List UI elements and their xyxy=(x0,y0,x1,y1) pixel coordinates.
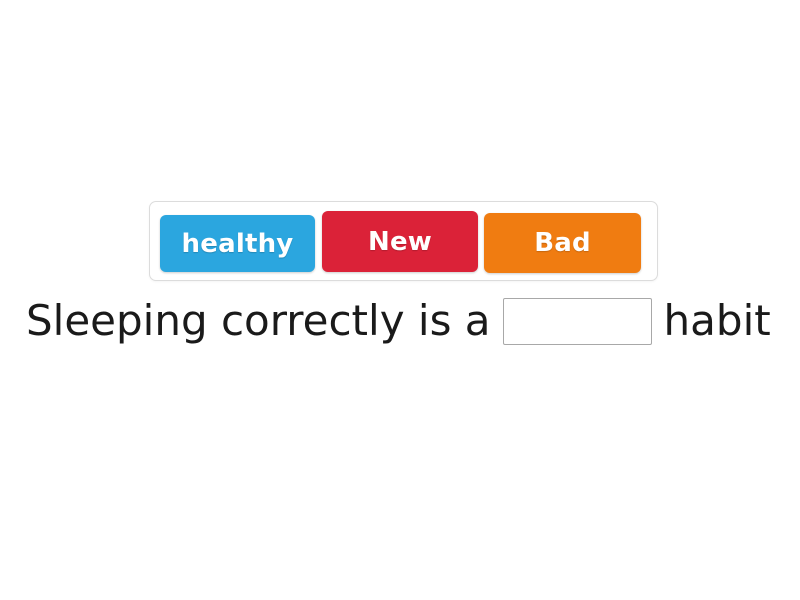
sentence-text-after: habit xyxy=(664,300,771,342)
sentence-text-before: Sleeping correctly is a xyxy=(26,300,491,342)
activity-stage: healthy New Bad Sleeping correctly is a … xyxy=(0,0,800,600)
word-tile-new[interactable]: New xyxy=(322,211,478,272)
word-tile-healthy-label: healthy xyxy=(182,229,294,259)
word-tile-bad[interactable]: Bad xyxy=(484,213,641,273)
sentence-line: Sleeping correctly is a habit xyxy=(26,290,786,352)
word-tile-healthy[interactable]: healthy xyxy=(160,215,315,272)
word-tile-new-label: New xyxy=(368,227,432,257)
answer-drop-slot[interactable] xyxy=(503,298,652,345)
word-tile-bad-label: Bad xyxy=(534,228,591,258)
